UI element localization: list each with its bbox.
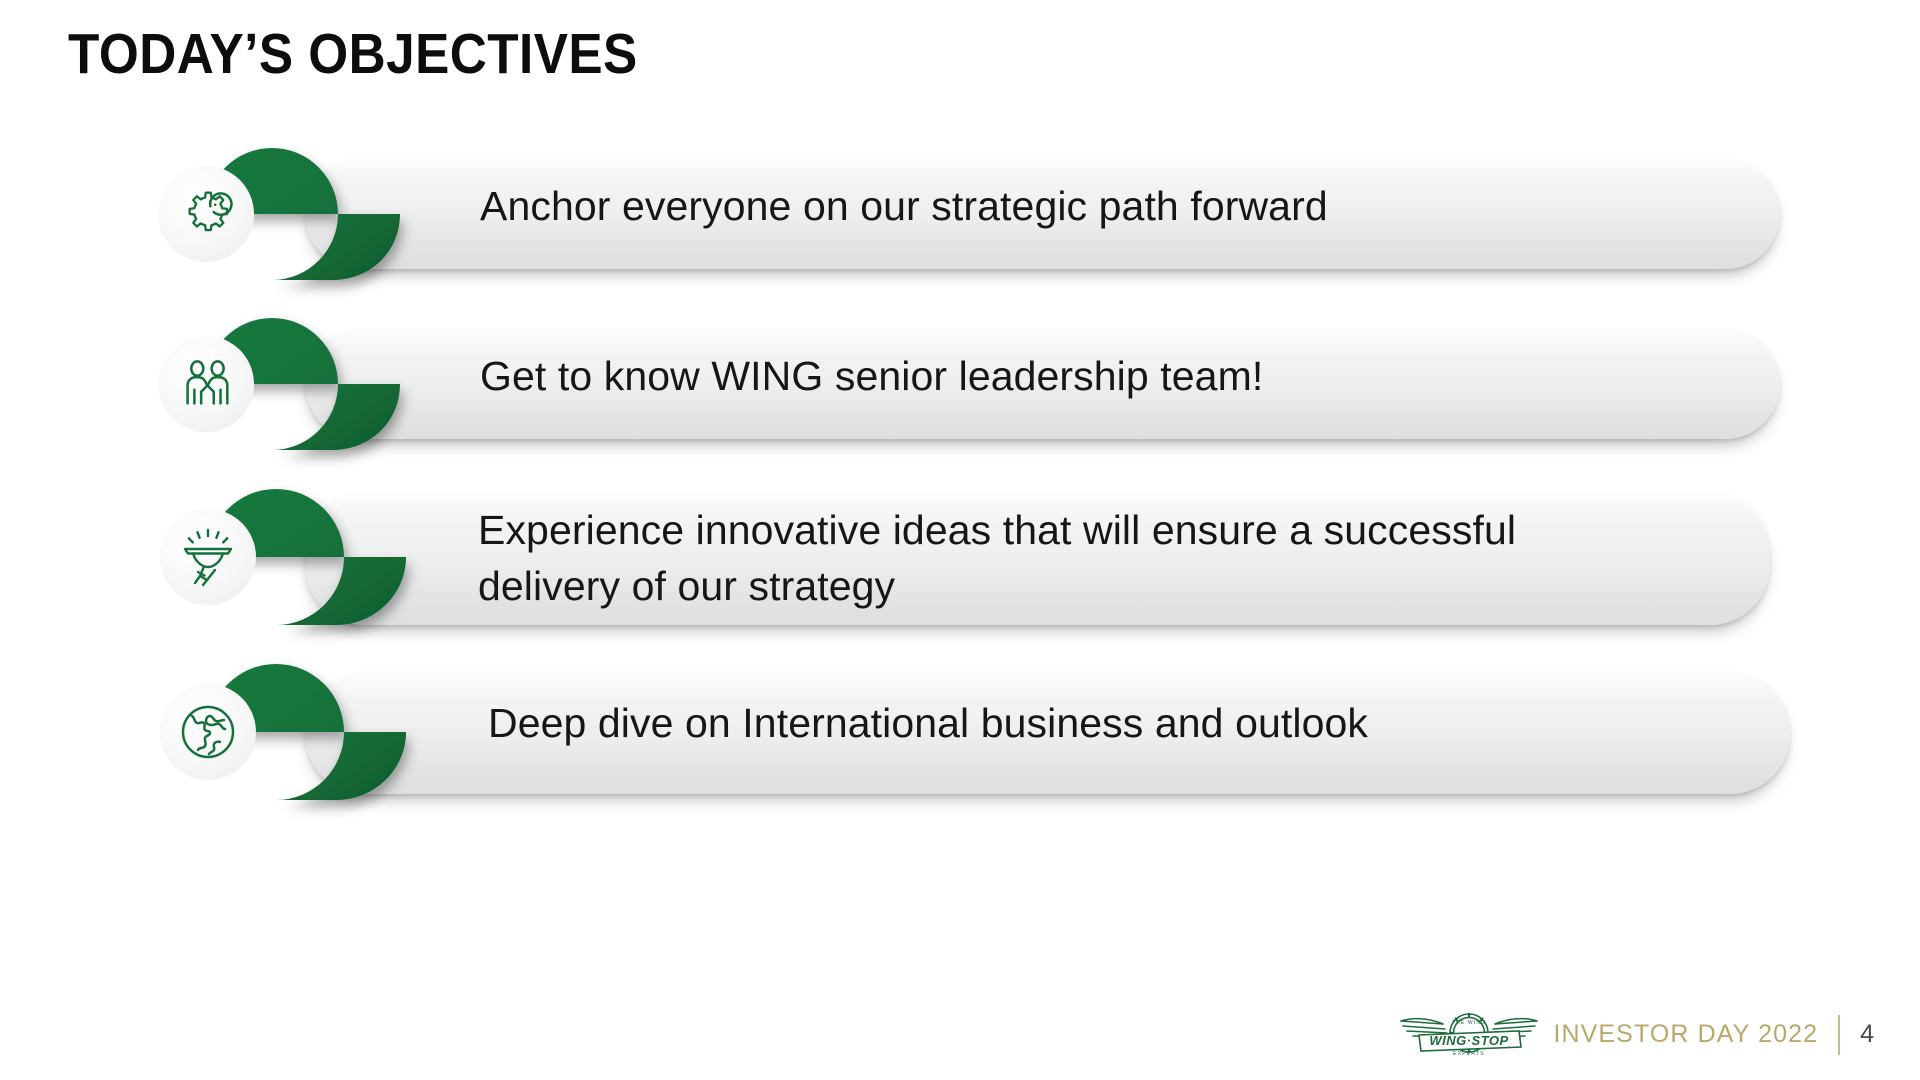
objective-text: Experience innovative ideas that will en… <box>478 502 1668 614</box>
objective-icon-disc <box>158 166 254 262</box>
objective-row[interactable]: Deep dive on International business and … <box>140 662 1820 804</box>
objectives-list: Anchor everyone on our strategic path fo… <box>0 0 1920 1000</box>
objective-icon-disc <box>158 336 254 432</box>
people-team-icon <box>175 353 237 415</box>
objective-text: Deep dive on International business and … <box>488 695 1788 751</box>
objective-text: Get to know WING senior leadership team! <box>480 348 1780 404</box>
serving-tray-icon <box>176 525 240 589</box>
objective-row[interactable]: Anchor everyone on our strategic path fo… <box>140 148 1820 280</box>
objective-row[interactable]: Experience innovative ideas that will en… <box>140 484 1820 634</box>
footer-divider <box>1838 1015 1840 1055</box>
objective-icon-disc <box>160 684 256 780</box>
objective-icon-disc <box>160 509 256 605</box>
svg-text:WING·STOP: WING·STOP <box>1430 1033 1509 1048</box>
svg-text:THE WING: THE WING <box>1452 1020 1487 1026</box>
wingstop-wings-logo: WING·STOP THE WING EXPERTS <box>1399 1007 1539 1063</box>
objective-row[interactable]: Get to know WING senior leadership team! <box>140 318 1820 450</box>
svg-text:EXPERTS: EXPERTS <box>1454 1051 1486 1057</box>
objective-text: Anchor everyone on our strategic path fo… <box>480 178 1780 234</box>
footer-label: INVESTOR DAY 2022 <box>1553 1020 1818 1051</box>
page-number: 4 <box>1860 1020 1874 1051</box>
globe-icon <box>176 700 240 764</box>
slide-footer: WING·STOP THE WING EXPERTS INVESTOR DAY … <box>1399 1004 1874 1066</box>
gear-icon <box>175 183 237 245</box>
